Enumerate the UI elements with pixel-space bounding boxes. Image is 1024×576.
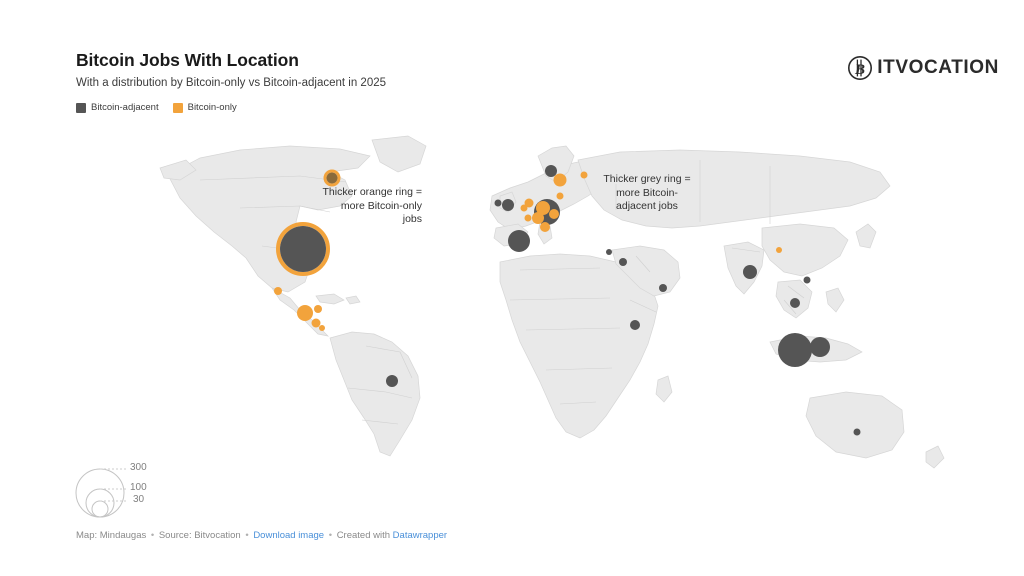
map-bubble[interactable]: China: 22	[776, 247, 782, 253]
datawrapper-link[interactable]: Datawrapper	[393, 530, 447, 541]
map-bubble[interactable]: Brazil: 45	[386, 375, 398, 387]
map-bubble[interactable]: Honduras: 30	[314, 305, 322, 313]
footer-created-with: Created with	[337, 530, 390, 541]
color-legend: Bitcoin-adjacent Bitcoin-only	[76, 102, 237, 113]
map-bubble[interactable]: Malaysia: 95	[810, 337, 830, 357]
size-legend-label-100: 100	[130, 482, 147, 493]
size-legend: 300 100 30	[70, 462, 200, 524]
size-legend-label-300: 300	[130, 462, 147, 473]
page-title: Bitcoin Jobs With Location	[76, 50, 299, 71]
map-landmasses	[160, 136, 944, 468]
map-bubble[interactable]: Italy: 35	[540, 222, 550, 232]
legend-swatch-adjacent	[76, 103, 86, 113]
bitvocation-logo: B ITVOCATION	[847, 55, 999, 81]
map-bubble[interactable]: United States: 300	[280, 226, 326, 272]
svg-text:B: B	[854, 62, 865, 78]
map-bubble[interactable]: Sweden: 48	[554, 174, 567, 187]
map-bubble[interactable]: Costa Rica: 32	[312, 319, 321, 328]
size-legend-label-30: 30	[133, 494, 144, 505]
footer-separator-1: •	[149, 530, 156, 541]
bubble-map-figure: United States: 300Canada: 40Mexico: 30El…	[0, 0, 1024, 576]
map-bubble[interactable]: Ethiopia: 36	[630, 320, 640, 330]
map-bubble[interactable]: Ireland: 28	[495, 200, 502, 207]
map-bubble[interactable]: Panama: 25	[319, 325, 325, 331]
map-bubble[interactable]: Singapore: 200	[778, 333, 812, 367]
footer-map-credit: Map: Mindaugas	[76, 530, 146, 541]
legend-label-adjacent: Bitcoin-adjacent	[91, 102, 159, 113]
logo-wordmark: ITVOCATION	[877, 57, 999, 79]
map-bubble[interactable]: Poland: 28	[557, 193, 564, 200]
map-bubble[interactable]: Canada: 40	[327, 173, 338, 184]
map-bubble[interactable]: UAE: 30	[659, 284, 667, 292]
map-bubble[interactable]: France: 28	[525, 215, 532, 222]
map-bubble[interactable]: Israel: 30	[619, 258, 627, 266]
map-bubble[interactable]: India: 55	[743, 265, 757, 279]
footer-separator-2: •	[243, 530, 250, 541]
map-bubble[interactable]: Switzerland: 45	[532, 212, 544, 224]
bitcoin-circle-icon: B	[847, 55, 873, 81]
map-bubble[interactable]: Greece: 22	[606, 249, 612, 255]
legend-item-bitcoin-adjacent: Bitcoin-adjacent	[76, 102, 159, 113]
footer-source: Source: Bitvocation	[159, 530, 241, 541]
map-bubble[interactable]: Portugal: 110	[508, 230, 530, 252]
download-image-link[interactable]: Download image	[253, 530, 324, 541]
map-bubble[interactable]: Hong Kong: 26	[804, 277, 811, 284]
map-bubble[interactable]: Norway: 42	[545, 165, 557, 177]
footer-separator-3: •	[327, 530, 334, 541]
map-bubble[interactable]: United Kingdom: 45	[502, 199, 514, 211]
legend-swatch-only	[173, 103, 183, 113]
footer-credits: Map: Mindaugas • Source: Bitvocation • D…	[76, 530, 447, 541]
legend-label-only: Bitcoin-only	[188, 102, 237, 113]
page-subtitle: With a distribution by Bitcoin-only vs B…	[76, 77, 386, 89]
legend-item-bitcoin-only: Bitcoin-only	[173, 102, 237, 113]
map-bubble[interactable]: Mexico: 30	[274, 287, 282, 295]
annotation-grey-ring: Thicker grey ring = more Bitcoin-adjacen…	[598, 173, 696, 214]
annotation-orange-ring: Thicker orange ring = more Bitcoin-only …	[322, 186, 422, 227]
map-bubble[interactable]: Czechia: 35	[549, 209, 559, 219]
map-bubble[interactable]: Finland: 28	[581, 172, 588, 179]
map-bubble[interactable]: Belgium: 28	[521, 205, 528, 212]
map-bubble[interactable]: Vietnam: 36	[790, 298, 800, 308]
map-bubble[interactable]: Australia: 26	[854, 429, 861, 436]
map-bubble[interactable]: El Salvador: 80	[297, 305, 313, 321]
